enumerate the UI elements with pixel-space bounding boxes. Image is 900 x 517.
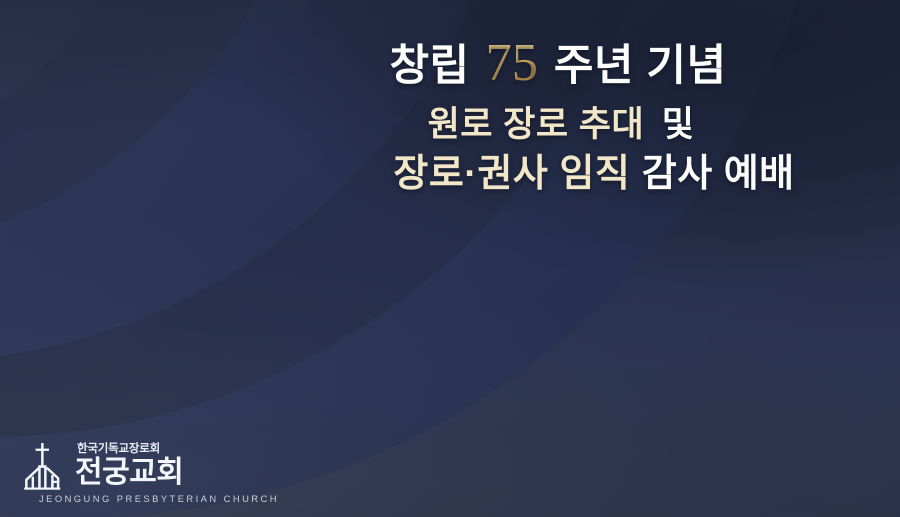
anniversary-poster: 창립75주년 기념 원로 장로 추대및 장로·권사 임직감사 예배 bbox=[0, 0, 900, 517]
elder-appointment-cream: 원로 장로 추대 bbox=[428, 105, 645, 144]
anniversary-suffix: 주년 기념 bbox=[554, 42, 727, 90]
ordination-white: 감사 예배 bbox=[642, 153, 795, 195]
anniversary-number: 75 bbox=[482, 34, 540, 92]
logo-denomination-kr: 한국기독교장로회 bbox=[75, 444, 160, 456]
ordination-cream: 장로·권사 임직 bbox=[393, 153, 630, 195]
logo-church-name-kr: 전궁교회 bbox=[75, 458, 183, 489]
logo-church-name-en: JEONGUNG PRESBYTERIAN CHURCH bbox=[39, 494, 279, 503]
headline-block: 창립75주년 기념 원로 장로 추대및 장로·권사 임직감사 예배 bbox=[248, 36, 888, 194]
anniversary-prefix: 창립 bbox=[389, 42, 469, 90]
elder-appointment-white: 및 bbox=[662, 105, 695, 144]
church-logo-lockup: 한국기독교장로회 전궁교회 JEONGUNG PRESBYTERIAN CHUR… bbox=[22, 442, 279, 503]
headline-line-ordination-service: 장로·권사 임직감사 예배 bbox=[248, 154, 888, 194]
headline-line-elder-appointment: 원로 장로 추대및 bbox=[248, 106, 888, 143]
church-cross-building-icon bbox=[22, 442, 66, 490]
logo-text-group: 한국기독교장로회 전궁교회 JEONGUNG PRESBYTERIAN CHUR… bbox=[75, 444, 279, 504]
headline-line-anniversary: 창립75주년 기념 bbox=[248, 36, 888, 92]
